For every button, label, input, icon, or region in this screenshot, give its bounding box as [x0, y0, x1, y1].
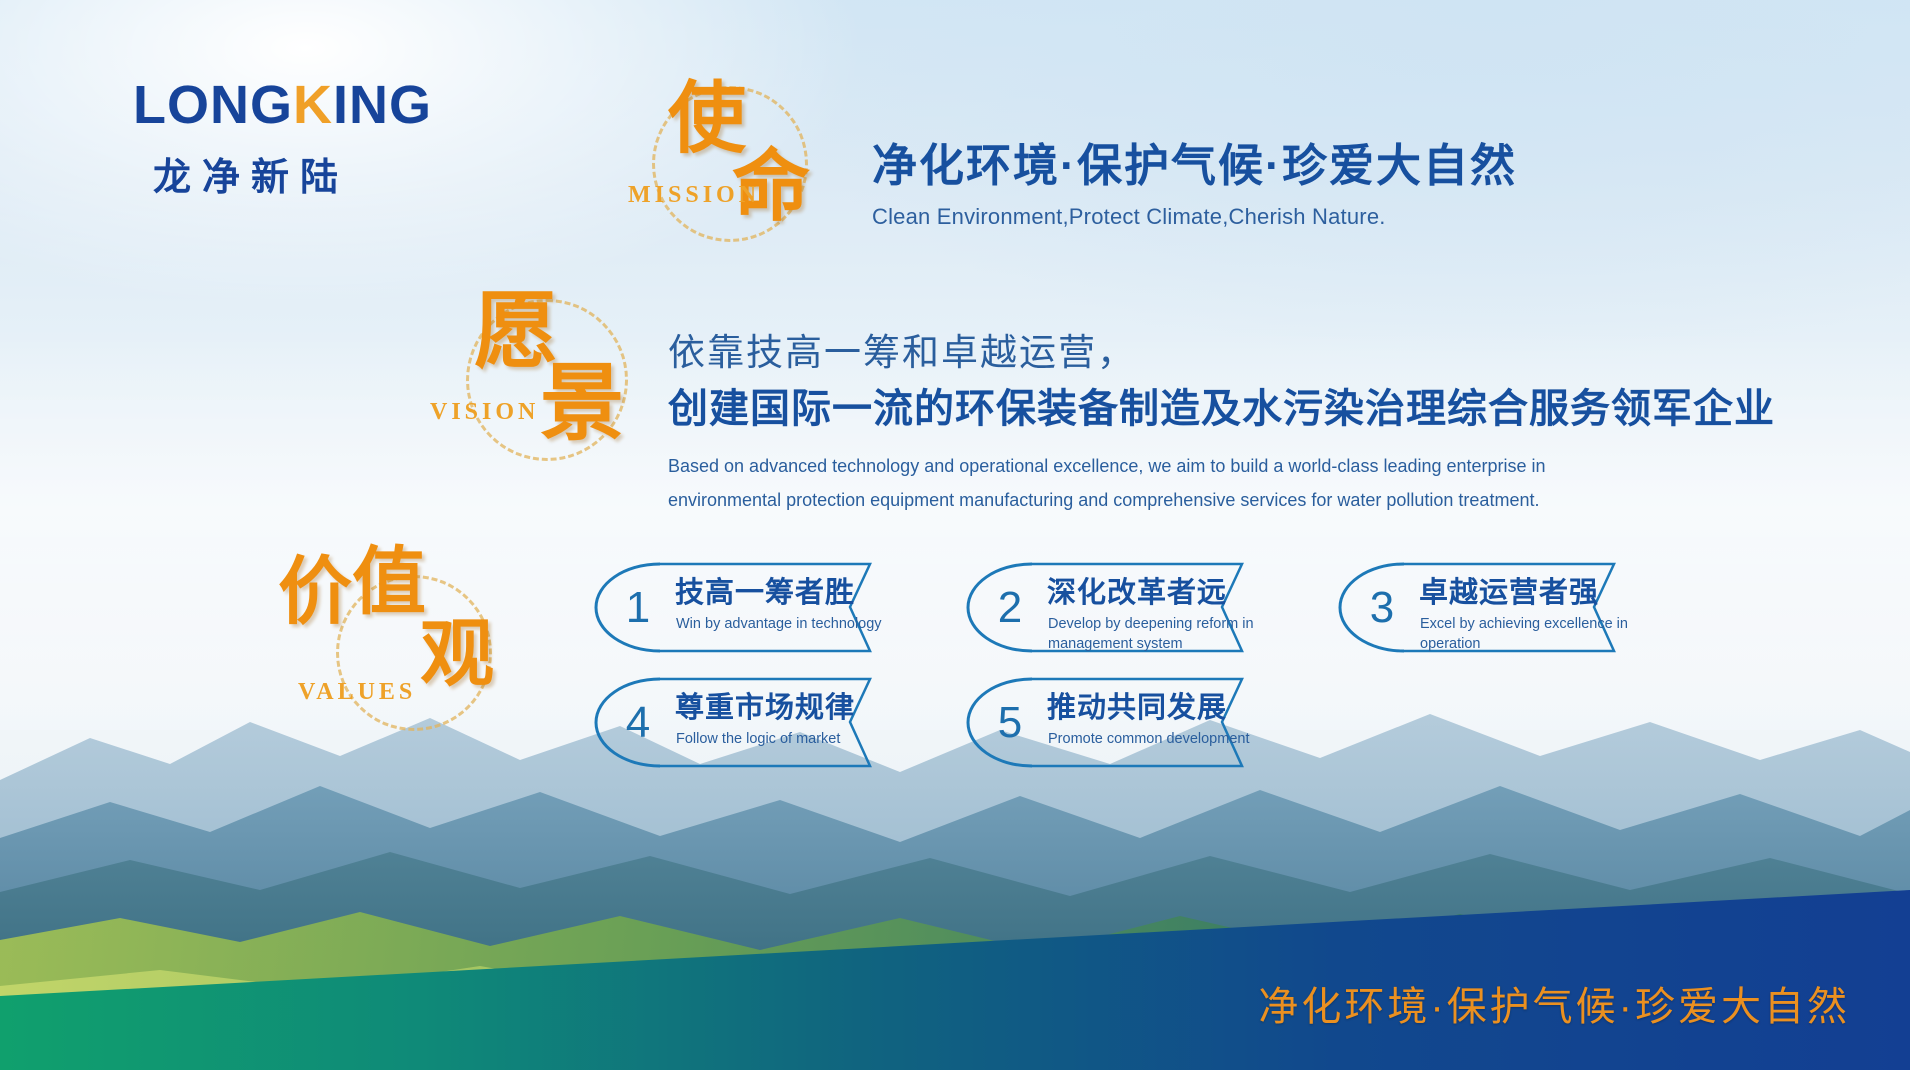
mission-badge: 使 命 MISSION	[620, 70, 850, 250]
value-cards: 1 技高一筹者胜 Win by advantage in technology …	[588, 560, 1878, 770]
value-card-1-title: 技高一筹者胜	[675, 578, 855, 610]
mission-headline-cn: 净化环境·保护气候·珍爱大自然	[872, 140, 1517, 192]
vision-line-1: 依靠技高一筹和卓越运营，	[668, 330, 1775, 376]
logo-word-long: LONG	[133, 75, 293, 135]
value-card-1-number: 1	[615, 586, 661, 630]
value-card-5-title: 推动共同发展	[1047, 693, 1227, 725]
value-cards-row-2: 4 尊重市场规律 Follow the logic of market 5 推动…	[588, 675, 1878, 770]
value-card-5[interactable]: 5 推动共同发展 Promote common development	[960, 675, 1260, 770]
value-card-1-subtitle: Win by advantage in technology	[676, 615, 891, 635]
logo-word-k: K	[293, 75, 333, 135]
vision-text-block: 依靠技高一筹和卓越运营， 创建国际一流的环保装备制造及水污染治理综合服务领军企业…	[668, 330, 1775, 517]
value-cards-row-1: 1 技高一筹者胜 Win by advantage in technology …	[588, 560, 1878, 655]
value-card-2-title: 深化改革者远	[1047, 578, 1227, 610]
logo-wordmark: LONGKING	[133, 78, 432, 132]
value-card-5-subtitle: Promote common development	[1048, 730, 1263, 750]
logo-chinese-name: 龙净新陆	[153, 146, 432, 201]
mission-headline-en: Clean Environment,Protect Climate,Cheris…	[872, 204, 1517, 230]
footer-banner: 净化环境·保护气候·珍爱大自然	[0, 890, 1910, 1070]
vision-badge: 愿 景 VISION	[430, 285, 670, 475]
company-logo[interactable]: LONGKING 龙净新陆	[133, 78, 432, 201]
value-card-2[interactable]: 2 深化改革者远 Develop by deepening reform in …	[960, 560, 1260, 655]
value-card-2-subtitle: Develop by deepening reform in managemen…	[1048, 615, 1263, 654]
value-card-3-number: 3	[1359, 586, 1405, 630]
mission-badge-label: MISSION	[628, 182, 760, 209]
vision-line-2: 创建国际一流的环保装备制造及水污染治理综合服务领军企业	[668, 384, 1775, 434]
value-card-1[interactable]: 1 技高一筹者胜 Win by advantage in technology	[588, 560, 888, 655]
logo-word-ing: ING	[333, 75, 432, 135]
values-badge: 价 值 观 VALUES	[270, 545, 540, 735]
value-card-4-number: 4	[615, 701, 661, 745]
value-card-3[interactable]: 3 卓越运营者强 Excel by achieving excellence i…	[1332, 560, 1632, 655]
vision-paragraph-en: Based on advanced technology and operati…	[668, 450, 1598, 517]
value-card-3-subtitle: Excel by achieving excellence in operati…	[1420, 615, 1635, 654]
value-card-4-subtitle: Follow the logic of market	[676, 730, 891, 750]
value-card-4-title: 尊重市场规律	[675, 693, 855, 725]
poster-canvas: 净化环境·保护气候·珍爱大自然 LONGKING 龙净新陆 使 命 MISSIO…	[0, 0, 1910, 1070]
footer-slogan: 净化环境·保护气候·珍爱大自然	[1258, 974, 1850, 1032]
value-card-3-title: 卓越运营者强	[1419, 578, 1599, 610]
vision-badge-label: VISION	[430, 399, 539, 426]
value-card-2-number: 2	[987, 586, 1033, 630]
values-badge-char-3: 观	[420, 617, 494, 691]
mission-text-block: 净化环境·保护气候·珍爱大自然 Clean Environment,Protec…	[872, 140, 1517, 230]
values-badge-char-2: 值	[352, 545, 426, 619]
value-card-4[interactable]: 4 尊重市场规律 Follow the logic of market	[588, 675, 888, 770]
value-card-5-number: 5	[987, 701, 1033, 745]
vision-badge-char-2: 景	[540, 361, 624, 445]
values-badge-label: VALUES	[298, 679, 416, 706]
values-badge-char-1: 价	[278, 555, 352, 629]
